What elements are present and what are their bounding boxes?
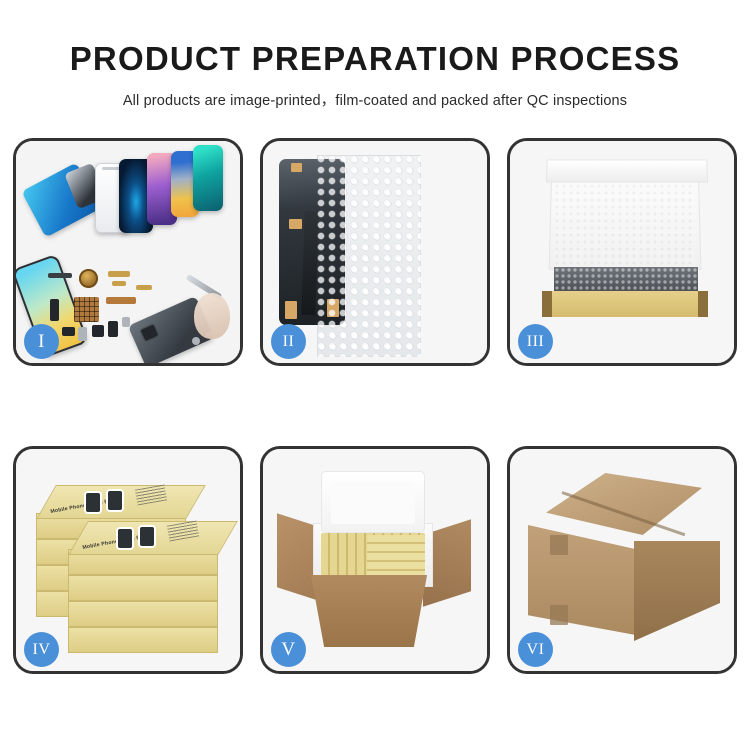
tape-piece-icon [285, 301, 297, 319]
box-artwork-phone-icon [140, 527, 154, 546]
kraft-box-base-icon [542, 291, 708, 317]
carton-top-face [546, 473, 702, 535]
carton-tape-icon [550, 605, 568, 625]
step-badge-2: II [271, 324, 306, 359]
box-artwork-phone-icon [108, 491, 122, 510]
screw-icon [192, 337, 200, 345]
screw-plate-icon [122, 317, 130, 327]
tape-piece-icon [289, 219, 302, 229]
tape-piece-icon [291, 163, 302, 172]
page-title: PRODUCT PREPARATION PROCESS [0, 40, 750, 78]
page-header: PRODUCT PREPARATION PROCESS All products… [0, 40, 750, 110]
sim-tray-part-icon [78, 327, 87, 341]
tape-piece-icon [327, 299, 339, 317]
gold-flex-part-icon [108, 271, 130, 277]
wrapped-screen-icon [279, 159, 345, 325]
process-step-panel-2: II [260, 138, 490, 366]
carton-body-icon [303, 575, 435, 647]
process-step-panel-5: V [260, 446, 490, 674]
step-badge-6: VI [518, 632, 553, 667]
copper-flex-cable-icon [106, 297, 136, 304]
taptic-engine-icon [92, 325, 104, 337]
gold-connector-part-icon [112, 281, 126, 286]
camera-module-icon [62, 327, 75, 336]
process-step-panel-3: III [507, 138, 737, 366]
page-subtitle: All products are image-printed，film-coat… [0, 89, 750, 110]
battery-connector-icon [108, 321, 118, 337]
teal-display-phone-icon [193, 145, 223, 211]
box-artwork-phone-icon [118, 529, 132, 548]
product-preparation-page: PRODUCT PREPARATION PROCESS All products… [0, 0, 750, 750]
antenna-flex-icon [136, 285, 152, 290]
shipping-carton-icon [528, 473, 720, 641]
step-badge-4: IV [24, 632, 59, 667]
step-badge-1: I [24, 324, 59, 359]
screen-flex-cable-icon [301, 211, 319, 315]
box-contents-icon [554, 267, 698, 293]
hand-icon [194, 293, 230, 339]
yellow-boxes-row-icon [367, 535, 425, 577]
step-badge-5: V [271, 632, 306, 667]
box-stack: Mobile Phone Spare Parts Mobile Phone Sp… [32, 469, 232, 661]
step-badge-3: III [518, 324, 553, 359]
foam-sheet-icon [554, 183, 696, 269]
process-step-panel-4: Mobile Phone Spare Parts Mobile Phone Sp… [13, 446, 243, 674]
logic-board-chip-icon [74, 297, 99, 322]
stacked-box [68, 575, 218, 601]
foam-lid-icon [321, 471, 425, 533]
process-step-panel-1: I [13, 138, 243, 366]
process-step-panel-6: VI [507, 446, 737, 674]
carton-side-face [634, 541, 720, 641]
flex-ribbon-part-icon [50, 299, 59, 321]
carton-front-face [528, 525, 636, 635]
carton-tape-icon [550, 535, 568, 555]
speaker-part-icon [48, 273, 72, 278]
stacked-box [68, 627, 218, 653]
process-step-grid: I II [13, 138, 737, 674]
stacked-box [68, 601, 218, 627]
vibration-motor-icon [79, 269, 98, 288]
box-artwork-phone-icon [86, 493, 100, 512]
